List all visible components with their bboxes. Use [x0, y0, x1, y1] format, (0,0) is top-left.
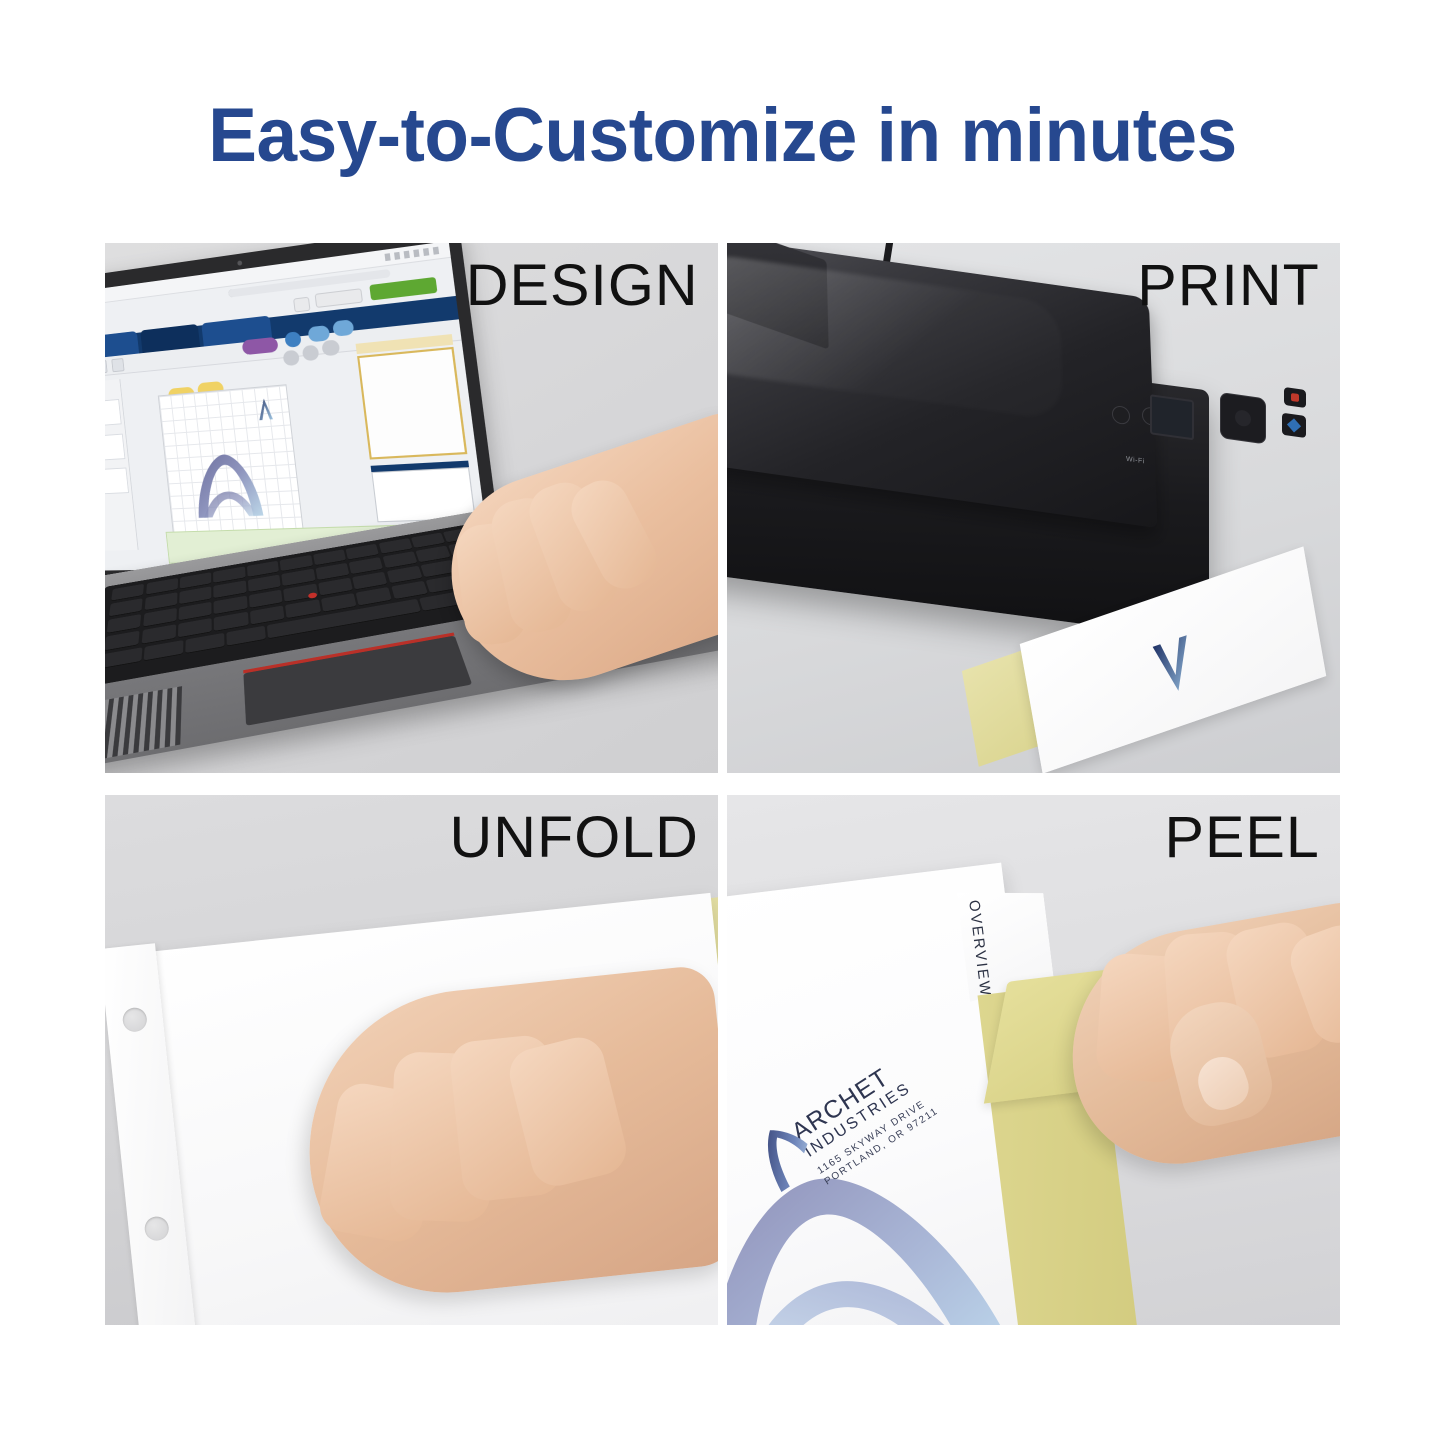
save-button: [315, 288, 363, 308]
tool-icon-3: [111, 358, 124, 372]
preview-print-button: [369, 277, 437, 301]
panel-label-design: DESIGN: [465, 255, 698, 317]
start-button[interactable]: [1282, 413, 1306, 438]
design-canvas: [158, 385, 305, 546]
panel-print: Wi-Fi PRINT: [727, 243, 1340, 773]
printer-control-panel: Wi-Fi: [1108, 354, 1318, 476]
back-button: [293, 297, 310, 313]
laptop-illustration: [105, 243, 718, 773]
panel-unfold: UNFOLD: [105, 795, 718, 1325]
panel-design: DESIGN: [105, 243, 718, 773]
webcam-icon: [237, 260, 242, 266]
panel-peel: ARCHET INDUSTRIES 1165 SKYWAY DRIVE PORT…: [727, 795, 1340, 1325]
laptop-vents: [105, 686, 183, 769]
page-title: Easy-to-Customize in minutes: [29, 96, 1416, 176]
canvas-logo-mark-icon: [250, 396, 282, 423]
trackpoint-nub: [307, 592, 317, 599]
panel-label-unfold: UNFOLD: [449, 807, 698, 869]
power-button[interactable]: [1112, 405, 1130, 426]
canvas-swoosh-icon: [182, 443, 275, 526]
lid-gloss-reflection: [727, 252, 1064, 421]
printer-lcd-screen: [1150, 394, 1194, 440]
dpad-control[interactable]: [1220, 392, 1266, 444]
punch-hole: [122, 1007, 148, 1033]
panel-label-peel: PEEL: [1164, 807, 1319, 869]
steps-grid: DESIGN: [105, 243, 1340, 1325]
stop-button[interactable]: [1284, 387, 1306, 408]
left-panel-row-2: [105, 433, 125, 461]
infographic-page: Easy-to-Customize in minutes: [0, 0, 1445, 1445]
page-title-wrap: Easy-to-Customize in minutes: [0, 96, 1445, 176]
ok-button[interactable]: [1235, 409, 1251, 427]
left-panel-row-1: [105, 399, 122, 427]
panel-label-print: PRINT: [1137, 255, 1320, 317]
sheet-navigator-preview: [357, 347, 467, 459]
thumbnail: [1191, 1050, 1254, 1115]
pill-grey-1: [282, 350, 300, 367]
pill-grey-3: [322, 340, 340, 357]
punch-hole: [144, 1215, 170, 1241]
left-panel-row-3: [105, 467, 129, 495]
